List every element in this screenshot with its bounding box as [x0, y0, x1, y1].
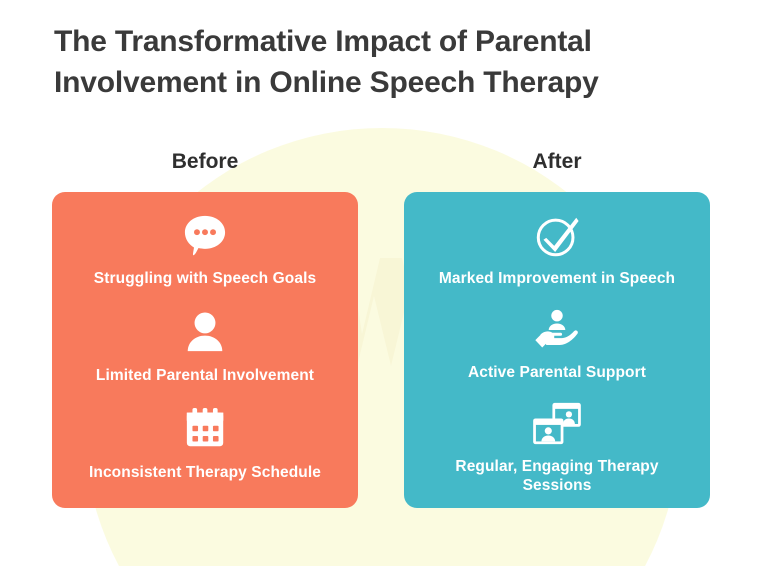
calendar-icon [184, 408, 227, 454]
page-title-line-1: The Transformative Impact of Parental [54, 22, 726, 63]
column-heading-before: Before [52, 150, 358, 174]
card-after: Marked Improvement in Speech Active Pare… [404, 192, 710, 508]
list-item-label: Active Parental Support [468, 363, 646, 383]
list-item-label: Marked Improvement in Speech [439, 269, 675, 289]
page-title-line-2: Involvement in Online Speech Therapy [54, 63, 726, 104]
list-item: Struggling with Speech Goals [52, 214, 358, 289]
page-title: The Transformative Impact of Parental In… [54, 22, 726, 103]
speech-bubble-icon [182, 214, 228, 260]
check-circle-icon [535, 214, 580, 260]
video-call-windows-icon [532, 402, 582, 448]
list-item: Active Parental Support [404, 308, 710, 383]
hand-support-icon [533, 308, 581, 354]
list-item: Inconsistent Therapy Schedule [52, 408, 358, 483]
list-item-label: Inconsistent Therapy Schedule [89, 463, 321, 483]
infographic-canvas: The Transformative Impact of Parental In… [0, 0, 768, 566]
person-icon [185, 311, 225, 357]
list-item: Limited Parental Involvement [52, 311, 358, 386]
list-item-label: Struggling with Speech Goals [94, 269, 316, 289]
list-item: Marked Improvement in Speech [404, 214, 710, 289]
column-heading-after: After [404, 150, 710, 174]
card-before: Struggling with Speech Goals Limited Par… [52, 192, 358, 508]
list-item-label: Regular, Engaging Therapy Sessions [423, 457, 691, 497]
list-item: Regular, Engaging Therapy Sessions [404, 402, 710, 497]
list-item-label: Limited Parental Involvement [96, 366, 314, 386]
